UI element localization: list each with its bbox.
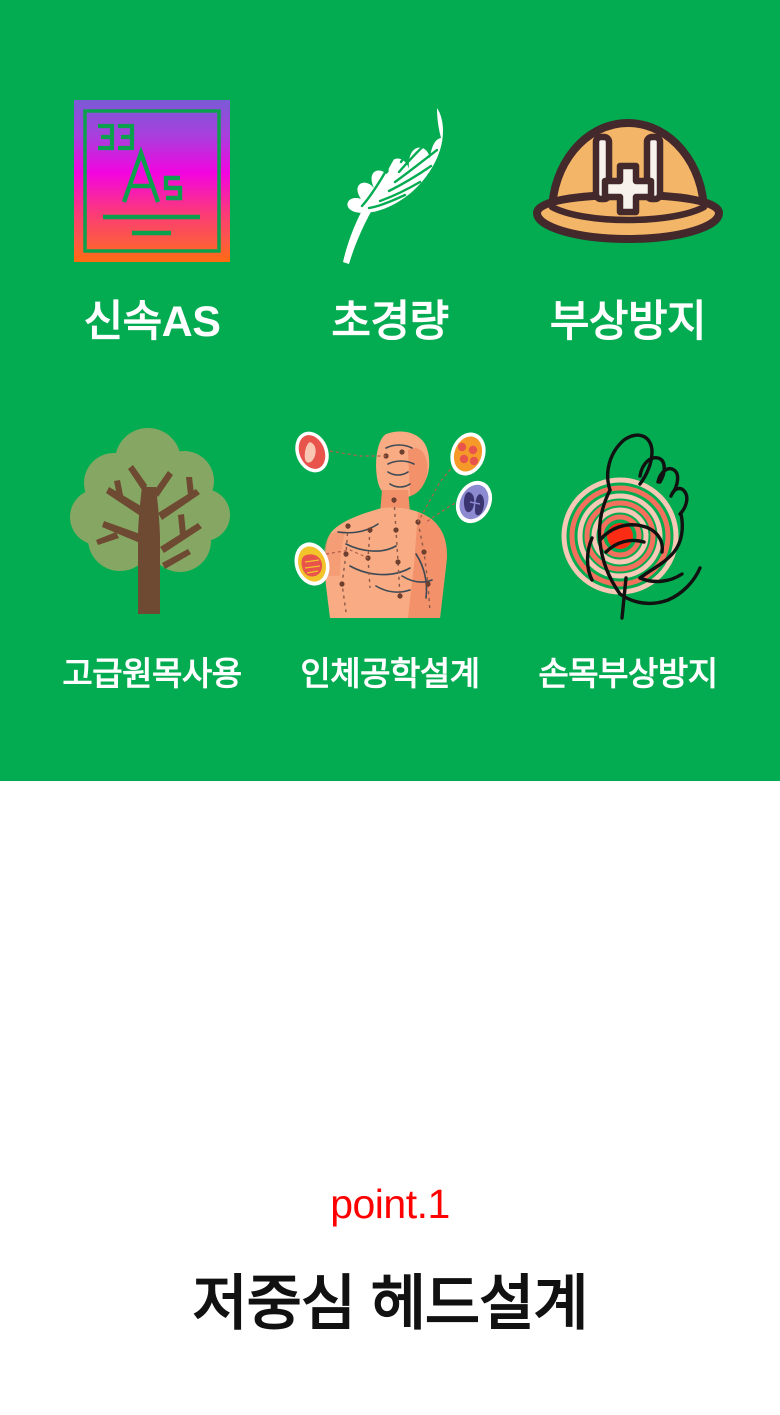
icon-box xyxy=(548,420,708,625)
icon-box xyxy=(74,86,230,276)
feather-icon xyxy=(325,96,455,266)
feature-cell-ultralight[interactable]: 초경량 xyxy=(271,86,509,346)
wrist-pain-icon xyxy=(548,428,708,618)
icon-box xyxy=(325,86,455,276)
feature-cell-ergonomic-design[interactable]: 인체공학설계 xyxy=(271,420,509,693)
organ-badge-stomach xyxy=(289,427,334,478)
feature-label: 초경량 xyxy=(331,298,448,346)
icon-box xyxy=(76,420,228,625)
periodic-element-tile-icon xyxy=(74,100,230,262)
feature-label: 부상방지 xyxy=(550,298,706,346)
feature-label: 인체공학설계 xyxy=(300,655,479,693)
safety-helmet-icon xyxy=(525,101,731,261)
tree-icon xyxy=(76,431,228,614)
caption-block: point.1 저중심 헤드설계 xyxy=(0,1180,780,1340)
human-anatomy-torso-icon xyxy=(290,426,490,619)
organ-badge-kidneys xyxy=(449,475,499,529)
feature-label: 손목부상방지 xyxy=(538,655,717,693)
feature-row-2: 고급원목사용 xyxy=(0,420,780,693)
page-title: 저중심 헤드설계 xyxy=(0,1268,780,1340)
organ-badge-cells xyxy=(445,428,492,481)
feature-label: 고급원목사용 xyxy=(62,655,241,693)
feature-row-1: 신속AS xyxy=(0,86,780,346)
feature-label: 신속AS xyxy=(84,298,221,346)
point-label: point.1 xyxy=(0,1180,780,1228)
icon-box xyxy=(525,86,731,276)
feature-cell-premium-wood[interactable]: 고급원목사용 xyxy=(33,420,271,693)
feature-cell-wrist-injury-prevention[interactable]: 손목부상방지 xyxy=(509,420,747,693)
icon-box xyxy=(290,420,490,625)
feature-cell-fast-as[interactable]: 신속AS xyxy=(33,86,271,346)
feature-cell-injury-prevention[interactable]: 부상방지 xyxy=(509,86,747,346)
feature-panel: 신속AS xyxy=(0,0,780,781)
